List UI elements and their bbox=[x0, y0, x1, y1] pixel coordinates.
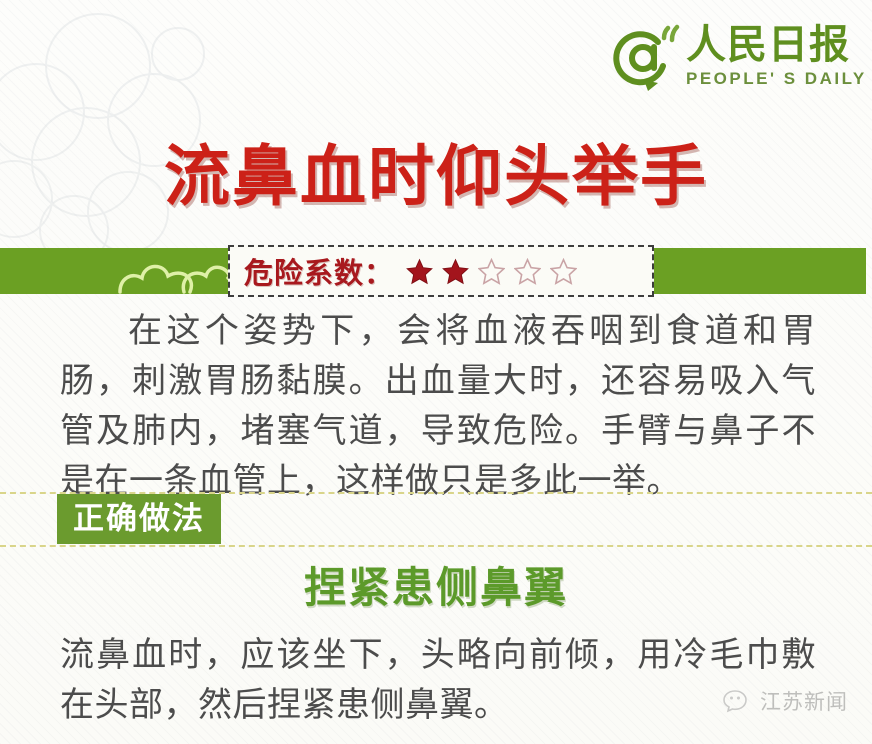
star-filled-icon bbox=[442, 258, 469, 285]
star-empty-icon bbox=[514, 258, 541, 285]
cloud-watermark-icon bbox=[0, 0, 228, 259]
divider-bottom bbox=[0, 545, 872, 547]
source-watermark: 江苏新闻 bbox=[723, 686, 848, 716]
star-empty-icon bbox=[550, 258, 577, 285]
correct-method-label: 正确做法 bbox=[73, 494, 205, 544]
method-subtitle: 捏紧患侧鼻翼 bbox=[0, 560, 872, 616]
correct-method-tag: 正确做法 bbox=[57, 494, 221, 544]
wechat-account-icon bbox=[723, 688, 753, 714]
danger-rating-box: 危险系数： bbox=[228, 245, 654, 297]
brand-name-cn: 人民日报 bbox=[686, 22, 850, 68]
infographic-poster: 人民日报 PEOPLE' S DAILY 流鼻血时仰头举手 危险系数： bbox=[0, 0, 872, 744]
brand-name-en: PEOPLE' S DAILY bbox=[686, 69, 867, 89]
brand-logo: 人民日报 PEOPLE' S DAILY bbox=[606, 22, 838, 106]
watermark-text: 江苏新闻 bbox=[760, 686, 848, 716]
danger-rating-stars bbox=[406, 258, 577, 285]
danger-rating-label: 危险系数： bbox=[244, 250, 394, 292]
page-title: 流鼻血时仰头举手 bbox=[0, 138, 872, 216]
at-sign-icon bbox=[606, 22, 684, 96]
danger-paragraph: 在这个姿势下，会将血液吞咽到食道和胃肠，刺激胃肠黏膜。出血量大时，还容易吸入气管… bbox=[60, 306, 816, 506]
star-empty-icon bbox=[478, 258, 505, 285]
method-paragraph: 流鼻血时，应该坐下，头略向前倾，用冷毛巾敷在头部，然后捏紧患侧鼻翼。 bbox=[60, 630, 816, 730]
star-filled-icon bbox=[406, 258, 433, 285]
